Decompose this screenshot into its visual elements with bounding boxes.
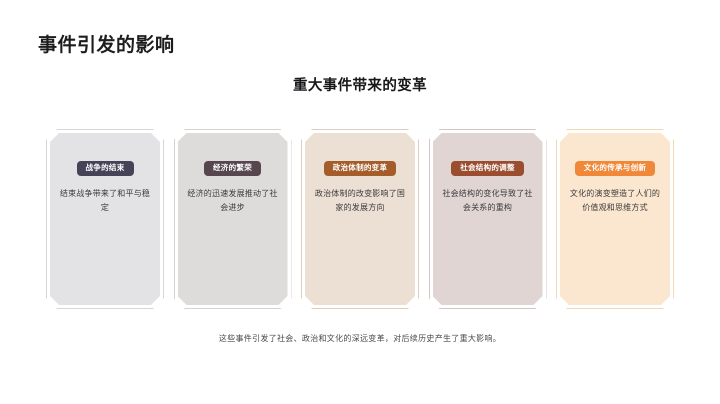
footer-summary: 这些事件引发了社会、政治和文化的深远变革，对后续历史产生了重大影响。 (0, 333, 720, 344)
section-subtitle: 重大事件带来的变革 (0, 74, 720, 95)
card-wrapper: 文化的传承与创新 文化的演变塑造了人们的价值观和思维方式 (560, 133, 670, 305)
impact-card[interactable]: 社会结构的调整 社会结构的变化导致了社会关系的重构 (433, 133, 543, 305)
card-badge: 经济的繁荣 (204, 161, 261, 176)
card-wrapper: 经济的繁荣 经济的迅速发展推动了社会进步 (178, 133, 288, 305)
card-body-text: 文化的演变塑造了人们的价值观和思维方式 (568, 187, 662, 215)
card-wrapper: 政治体制的变革 政治体制的改变影响了国家的发展方向 (305, 133, 415, 305)
impact-card[interactable]: 文化的传承与创新 文化的演变塑造了人们的价值观和思维方式 (560, 133, 670, 305)
card-badge: 战争的结束 (77, 161, 134, 176)
page-title: 事件引发的影响 (38, 30, 175, 57)
card-badge: 社会结构的调整 (451, 161, 524, 176)
card-wrapper: 社会结构的调整 社会结构的变化导致了社会关系的重构 (433, 133, 543, 305)
card-badge: 文化的传承与创新 (575, 161, 655, 176)
slide-canvas: 事件引发的影响 重大事件带来的变革 战争的结束 结束战争带来了和平与稳定 经济的… (0, 0, 720, 404)
impact-card[interactable]: 战争的结束 结束战争带来了和平与稳定 (50, 133, 160, 305)
card-body-text: 经济的迅速发展推动了社会进步 (186, 187, 280, 215)
cards-row: 战争的结束 结束战争带来了和平与稳定 经济的繁荣 经济的迅速发展推动了社会进步 … (50, 133, 670, 305)
card-body-text: 政治体制的改变影响了国家的发展方向 (313, 187, 407, 215)
card-wrapper: 战争的结束 结束战争带来了和平与稳定 (50, 133, 160, 305)
card-body-text: 社会结构的变化导致了社会关系的重构 (441, 187, 535, 215)
card-badge: 政治体制的变革 (324, 161, 397, 176)
card-body-text: 结束战争带来了和平与稳定 (58, 187, 152, 215)
impact-card[interactable]: 政治体制的变革 政治体制的改变影响了国家的发展方向 (305, 133, 415, 305)
impact-card[interactable]: 经济的繁荣 经济的迅速发展推动了社会进步 (178, 133, 288, 305)
